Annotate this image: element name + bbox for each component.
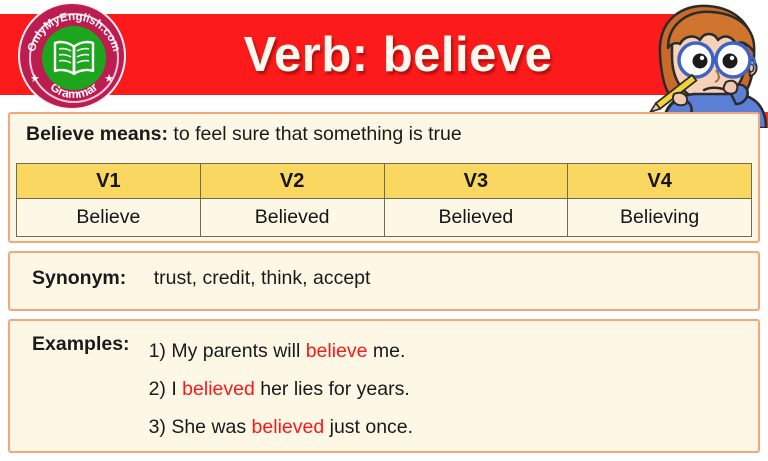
meaning-row: Believe means: to feel sure that somethi… xyxy=(10,114,758,146)
example-highlight: believe xyxy=(306,340,368,362)
synonym-values: trust, credit, think, accept xyxy=(132,267,371,289)
verb-form-v3: Believed xyxy=(384,199,568,237)
star-icon-right: ★ xyxy=(104,74,114,85)
synonym-label: Synonym: xyxy=(32,267,126,289)
example-before: I xyxy=(166,378,182,400)
column-header-v2: V2 xyxy=(200,164,384,199)
column-header-v1: V1 xyxy=(17,164,201,199)
star-icon-left: ★ xyxy=(30,74,40,85)
meaning-card: Believe means: to feel sure that somethi… xyxy=(8,112,760,243)
verb-form-v2: Believed xyxy=(200,199,384,237)
column-header-v4: V4 xyxy=(568,164,752,199)
list-item: 2) I believed her lies for years. xyxy=(149,370,414,408)
verb-form-v4: Believing xyxy=(568,199,752,237)
example-before: My parents will xyxy=(166,340,306,362)
example-number: 2) xyxy=(149,378,166,400)
example-highlight: believed xyxy=(252,416,325,438)
synonym-row: Synonym: trust, credit, think, accept xyxy=(10,253,758,290)
page-title: Verb: believe xyxy=(163,21,633,89)
logo-core xyxy=(42,26,106,90)
table-row: Believe Believed Believed Believing xyxy=(17,199,752,237)
examples-list: 1) My parents will believe me. 2) I beli… xyxy=(130,332,414,446)
open-book-icon xyxy=(50,39,98,77)
site-logo[interactable]: OnlyMyEnglish.com Grammar ★ ★ xyxy=(18,2,126,110)
examples-card: Examples: 1) My parents will believe me.… xyxy=(8,319,760,453)
list-item: 1) My parents will believe me. xyxy=(149,332,414,370)
verb-form-v1: Believe xyxy=(17,199,201,237)
example-number: 1) xyxy=(149,340,166,362)
table-header-row: V1 V2 V3 V4 xyxy=(17,164,752,199)
column-header-v3: V3 xyxy=(384,164,568,199)
page-header: Verb: believe OnlyMyEnglish.com Grammar … xyxy=(0,0,768,112)
example-after: me. xyxy=(368,340,406,362)
example-number: 3) xyxy=(149,416,166,438)
example-highlight: believed xyxy=(182,378,255,400)
examples-label: Examples: xyxy=(32,332,130,446)
example-before: She was xyxy=(166,416,252,438)
synonym-card: Synonym: trust, credit, think, accept xyxy=(8,251,760,311)
verb-forms-table: V1 V2 V3 V4 Believe Believed Believed Be… xyxy=(16,163,752,237)
example-after: her lies for years. xyxy=(255,378,410,400)
student-thinking-icon xyxy=(620,0,768,128)
meaning-label: Believe means: xyxy=(26,123,168,145)
list-item: 3) She was believed just once. xyxy=(149,408,414,446)
meaning-text: to feel sure that something is true xyxy=(173,123,461,145)
example-after: just once. xyxy=(324,416,413,438)
